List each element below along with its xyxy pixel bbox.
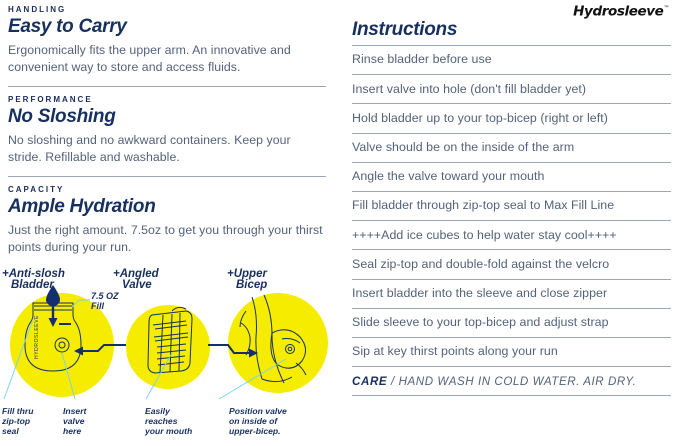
diagram-heading-valve: +Angled Valve: [113, 268, 160, 291]
caption-line: zip-top: [1, 416, 30, 426]
care-instructions: CARE / HAND WASH IN COLD WATER. AIR DRY.: [352, 366, 671, 396]
feature-eyebrow: CAPACITY: [8, 186, 326, 194]
instruction-step: Rinse bladder before use: [352, 45, 671, 74]
caption-line: Easily: [145, 406, 171, 416]
instruction-step: Insert bladder into the sleeve and close…: [352, 279, 671, 308]
caption-line: Insert: [63, 406, 88, 416]
diagram-heading-bladder: +Anti-slosh Bladder: [2, 268, 65, 291]
fill-callout-line2: Fill: [91, 301, 104, 311]
instruction-step: Sip at key thirst points along your run: [352, 337, 671, 366]
care-text: / HAND WASH IN COLD WATER. AIR DRY.: [391, 375, 636, 388]
instruction-step: Hold bladder up to your top-bicep (right…: [352, 103, 671, 132]
feature-body: Just the right amount. 7.5oz to get you …: [8, 222, 326, 257]
feature-handling: HANDLING Easy to Carry Ergonomically fit…: [0, 0, 340, 77]
feature-title: Ample Hydration: [8, 197, 326, 217]
feature-performance: PERFORMANCE No Sloshing No sloshing and …: [0, 96, 340, 167]
caption-line: valve: [63, 416, 85, 426]
caption-fill-thru: Fill thru zip-top seal: [1, 406, 34, 436]
caption-line: seal: [2, 426, 19, 436]
instruction-step: Slide sleeve to your top-bicep and adjus…: [352, 308, 671, 337]
instruction-step: Seal zip-top and double-fold against the…: [352, 249, 671, 278]
usage-diagram: +Anti-slosh Bladder +Angled Valve +Upper…: [0, 267, 340, 445]
section-divider: [8, 86, 326, 87]
caption-line: Position valve: [229, 406, 287, 416]
instruction-step: Fill bladder through zip-top seal to Max…: [352, 191, 671, 220]
caption-line: on inside of: [229, 416, 278, 426]
brand-logo: Hydrosleeve™: [352, 0, 671, 17]
caption-insert-valve: Insert valve here: [63, 406, 88, 436]
diagram-heading-line2: Bicep: [236, 279, 267, 291]
caption-line: reaches: [145, 416, 178, 426]
instruction-step: ++++Add ice cubes to help water stay coo…: [352, 220, 671, 249]
diagram-heading-line2: Valve: [122, 279, 152, 291]
instruction-step: Valve should be on the inside of the arm: [352, 133, 671, 162]
bladder-vertical-brand: HYDROSLEEVE: [34, 314, 40, 358]
brand-logo-text: Hydrosleeve: [573, 4, 663, 20]
feature-body: No sloshing and no awkward containers. K…: [8, 132, 326, 167]
instructions-column: Hydrosleeve™ Instructions Rinse bladder …: [340, 0, 679, 446]
product-info-page: HANDLING Easy to Carry Ergonomically fit…: [0, 0, 679, 446]
caption-line: upper-bicep.: [229, 426, 281, 436]
caption-easily-reaches: Easily reaches your mouth: [144, 406, 192, 436]
caption-position-valve: Position valve on inside of upper-bicep.: [229, 406, 287, 436]
features-column: HANDLING Easy to Carry Ergonomically fit…: [0, 0, 340, 446]
care-label: CARE: [352, 375, 387, 388]
trademark-symbol: ™: [663, 5, 669, 12]
instructions-list: Rinse bladder before use Insert valve in…: [352, 45, 671, 366]
feature-body: Ergonomically fits the upper arm. An inn…: [8, 42, 326, 77]
highlight-circle-bicep: [228, 293, 328, 393]
section-divider: [8, 176, 326, 177]
instruction-step: Angle the valve toward your mouth: [352, 162, 671, 191]
instruction-step: Insert valve into hole (don't fill bladd…: [352, 74, 671, 103]
instructions-title: Instructions: [352, 20, 671, 41]
diagram-heading-bicep: +Upper Bicep: [227, 268, 267, 291]
feature-capacity: CAPACITY Ample Hydration Just the right …: [0, 186, 340, 257]
feature-eyebrow: PERFORMANCE: [8, 96, 326, 104]
fill-callout-line1: 7.5 OZ: [91, 291, 119, 301]
highlight-circle-valve: [126, 305, 210, 389]
feature-title: No Sloshing: [8, 107, 326, 127]
feature-title: Easy to Carry: [8, 17, 326, 37]
caption-line: Fill thru: [2, 406, 34, 416]
caption-line: your mouth: [144, 426, 192, 436]
feature-eyebrow: HANDLING: [8, 6, 326, 14]
diagram-heading-line2: Bladder: [11, 279, 54, 291]
caption-line: here: [63, 426, 81, 436]
